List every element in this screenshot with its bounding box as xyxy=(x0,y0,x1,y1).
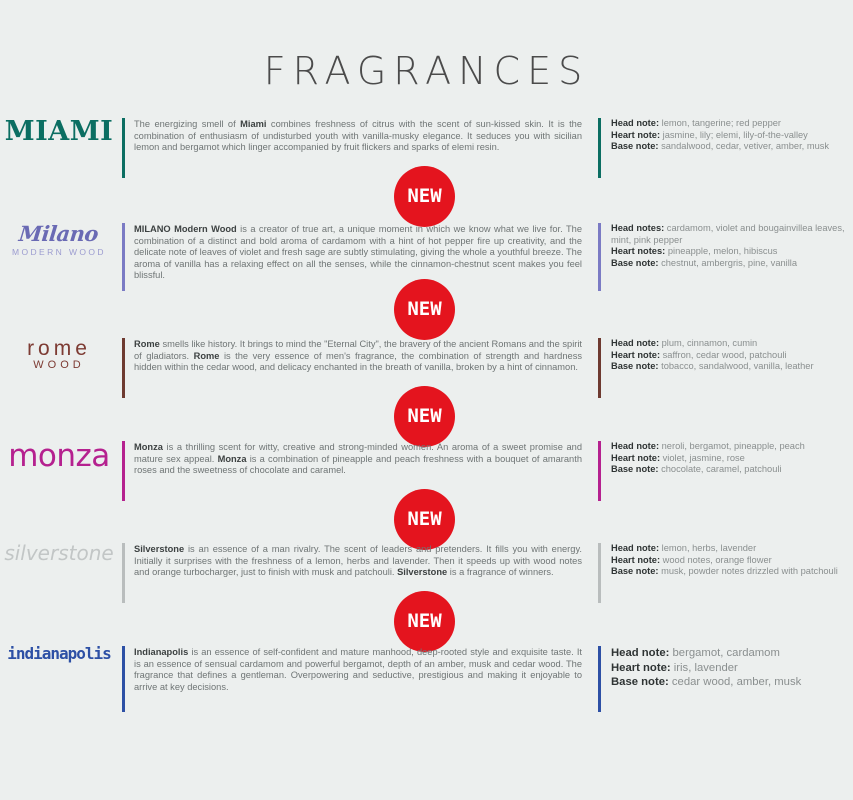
notes-cell-rome: Head note: plum, cinnamon, cuminHeart no… xyxy=(598,338,853,373)
accent-divider-left-monza xyxy=(122,441,125,501)
description-fragment: The energizing smell of xyxy=(134,119,240,129)
note-label: Base note: xyxy=(611,566,659,576)
description-text-milano: MILANO Modern Wood is a creator of true … xyxy=(134,223,582,282)
note-line: Base note: cedar wood, amber, musk xyxy=(611,675,847,690)
notes-cell-silverstone: Head note: lemon, herbs, lavenderHeart n… xyxy=(598,543,853,578)
note-line: Heart note: violet, jasmine, rose xyxy=(611,453,847,465)
new-badge[interactable]: NEW xyxy=(394,591,455,652)
fragrance-row-milano: MilanoMODERN WOODMILANO Modern Wood is a… xyxy=(0,223,853,282)
brand-name-monza: monza xyxy=(8,441,110,472)
brand-logo-text-silverstone: silverstone xyxy=(4,543,113,563)
note-value: iris, lavender xyxy=(671,662,738,674)
note-label: Head note: xyxy=(611,543,659,553)
brand-logo-monza[interactable]: monza xyxy=(0,441,122,472)
fragrances-infographic: FRAGRANCES MIAMIThe energizing smell of … xyxy=(0,0,853,800)
note-line: Heart notes: pineapple, melon, hibiscus xyxy=(611,246,847,258)
description-emphasis: Monza xyxy=(134,442,163,452)
note-value: chocolate, caramel, patchouli xyxy=(659,464,782,474)
note-value: violet, jasmine, rose xyxy=(660,453,745,463)
new-badge[interactable]: NEW xyxy=(394,386,455,447)
note-value: plum, cinnamon, cumin xyxy=(659,338,757,348)
description-emphasis: Silverstone xyxy=(397,567,447,577)
accent-divider-right-milano xyxy=(598,223,601,291)
description-cell-indianapolis: Indianapolis is an essence of self-confi… xyxy=(122,646,598,693)
fragrance-row-rome: romeWOODRome smells like history. It bri… xyxy=(0,338,853,374)
new-badge[interactable]: NEW xyxy=(394,489,455,550)
note-label: Heart notes: xyxy=(611,246,665,256)
description-cell-rome: Rome smells like history. It brings to m… xyxy=(122,338,598,374)
note-line: Head note: neroli, bergamot, pineapple, … xyxy=(611,441,847,453)
description-emphasis: MILANO Modern Wood xyxy=(134,224,237,234)
note-line: Heart note: jasmine, lily; elemi, lily-o… xyxy=(611,130,847,142)
brand-name-milano: Milano xyxy=(18,223,99,244)
note-value: bergamot, cardamom xyxy=(669,647,780,659)
note-label: Base note: xyxy=(611,258,659,268)
new-badge-label: NEW xyxy=(407,612,441,631)
new-badge-label: NEW xyxy=(407,187,441,206)
note-line: Heart note: iris, lavender xyxy=(611,661,847,676)
note-line: Head note: lemon, tangerine; red pepper xyxy=(611,118,847,130)
note-label: Base note: xyxy=(611,141,659,151)
description-fragment: is a fragrance of winners. xyxy=(447,567,553,577)
page-title: FRAGRANCES xyxy=(264,52,589,90)
note-value: chestnut, ambergris, pine, vanilla xyxy=(659,258,798,268)
new-badge-label: NEW xyxy=(407,510,441,529)
description-emphasis: Silverstone xyxy=(134,544,184,554)
description-emphasis: Indianapolis xyxy=(134,647,188,657)
brand-name-silverstone: silverstone xyxy=(4,543,113,563)
accent-divider-right-miami xyxy=(598,118,601,178)
fragrance-row-indianapolis: indianapolisIndianapolis is an essence o… xyxy=(0,646,853,693)
note-value: saffron, cedar wood, patchouli xyxy=(660,350,786,360)
brand-name-miami: MIAMI xyxy=(5,118,113,145)
note-line: Heart note: wood notes, orange flower xyxy=(611,555,847,567)
description-emphasis: Rome xyxy=(134,339,160,349)
note-line: Head note: bergamot, cardamom xyxy=(611,646,847,661)
new-badge[interactable]: NEW xyxy=(394,166,455,227)
description-emphasis: Monza xyxy=(218,454,247,464)
description-fragment: is an essence of self-confident and matu… xyxy=(134,647,582,692)
note-line: Base note: tobacco, sandalwood, vanilla,… xyxy=(611,361,847,373)
note-value: lemon, tangerine; red pepper xyxy=(659,118,781,128)
note-line: Head note: plum, cinnamon, cumin xyxy=(611,338,847,350)
page-title-container: FRAGRANCES xyxy=(0,52,853,90)
brand-subtitle-milano: MODERN WOOD xyxy=(12,248,106,257)
note-label: Head note: xyxy=(611,338,659,348)
note-value: tobacco, sandalwood, vanilla, leather xyxy=(659,361,814,371)
brand-logo-rome[interactable]: romeWOOD xyxy=(0,338,122,371)
brand-name-rome: rome xyxy=(27,338,91,359)
note-label: Heart note: xyxy=(611,662,671,674)
note-label: Base note: xyxy=(611,676,669,688)
note-label: Head notes: xyxy=(611,223,664,233)
note-value: pineapple, melon, hibiscus xyxy=(665,246,777,256)
accent-divider-right-monza xyxy=(598,441,601,501)
accent-divider-left-rome xyxy=(122,338,125,398)
brand-logo-miami[interactable]: MIAMI xyxy=(0,118,122,145)
notes-cell-milano: Head notes: cardamom, violet and bougain… xyxy=(598,223,853,269)
note-line: Base note: musk, powder notes drizzled w… xyxy=(611,566,847,578)
brand-logo-text-monza: monza xyxy=(8,441,110,472)
note-label: Heart note: xyxy=(611,453,660,463)
description-emphasis: Miami xyxy=(240,119,266,129)
note-label: Base note: xyxy=(611,464,659,474)
fragrance-row-monza: monzaMonza is a thrilling scent for witt… xyxy=(0,441,853,477)
accent-divider-left-silverstone xyxy=(122,543,125,603)
description-text-miami: The energizing smell of Miami combines f… xyxy=(134,118,582,154)
note-label: Head note: xyxy=(611,118,659,128)
accent-divider-left-milano xyxy=(122,223,125,291)
note-label: Head note: xyxy=(611,647,669,659)
note-line: Base note: chocolate, caramel, patchouli xyxy=(611,464,847,476)
description-text-silverstone: Silverstone is an essence of a man rival… xyxy=(134,543,582,579)
note-line: Heart note: saffron, cedar wood, patchou… xyxy=(611,350,847,362)
fragrance-row-miami: MIAMIThe energizing smell of Miami combi… xyxy=(0,118,853,154)
note-line: Base note: chestnut, ambergris, pine, va… xyxy=(611,258,847,270)
description-text-monza: Monza is a thrilling scent for witty, cr… xyxy=(134,441,582,477)
accent-divider-left-indianapolis xyxy=(122,646,125,712)
note-label: Base note: xyxy=(611,361,659,371)
note-label: Head note: xyxy=(611,441,659,451)
note-line: Head notes: cardamom, violet and bougain… xyxy=(611,223,847,246)
notes-cell-monza: Head note: neroli, bergamot, pineapple, … xyxy=(598,441,853,476)
accent-divider-left-miami xyxy=(122,118,125,178)
note-value: sandalwood, cedar, vetiver, amber, musk xyxy=(659,141,830,151)
description-cell-silverstone: Silverstone is an essence of a man rival… xyxy=(122,543,598,579)
note-value: neroli, bergamot, pineapple, peach xyxy=(659,441,805,451)
brand-logo-text-indianapolis: indianapolis xyxy=(7,646,111,662)
brand-logo-text-rome: romeWOOD xyxy=(27,338,91,371)
note-value: jasmine, lily; elemi, lily-of-the-valley xyxy=(660,130,808,140)
note-value: lemon, herbs, lavender xyxy=(659,543,756,553)
new-badge-label: NEW xyxy=(407,407,441,426)
description-cell-milano: MILANO Modern Wood is a creator of true … xyxy=(122,223,598,282)
description-text-indianapolis: Indianapolis is an essence of self-confi… xyxy=(134,646,582,693)
description-cell-miami: The energizing smell of Miami combines f… xyxy=(122,118,598,154)
brand-logo-text-miami: MIAMI xyxy=(5,118,113,145)
note-line: Base note: sandalwood, cedar, vetiver, a… xyxy=(611,141,847,153)
brand-name-indianapolis: indianapolis xyxy=(7,646,111,662)
fragrance-row-silverstone: silverstoneSilverstone is an essence of … xyxy=(0,543,853,579)
notes-cell-miami: Head note: lemon, tangerine; red pepperH… xyxy=(598,118,853,153)
note-label: Heart note: xyxy=(611,350,660,360)
brand-logo-silverstone[interactable]: silverstone xyxy=(0,543,122,563)
note-value: wood notes, orange flower xyxy=(660,555,772,565)
note-label: Heart note: xyxy=(611,555,660,565)
brand-subtitle-rome: WOOD xyxy=(27,360,91,371)
description-text-rome: Rome smells like history. It brings to m… xyxy=(134,338,582,374)
note-value: cedar wood, amber, musk xyxy=(669,676,802,688)
note-value: musk, powder notes drizzled with patchou… xyxy=(659,566,838,576)
description-emphasis: Rome xyxy=(194,351,220,361)
new-badge[interactable]: NEW xyxy=(394,279,455,340)
note-label: Heart note: xyxy=(611,130,660,140)
accent-divider-right-indianapolis xyxy=(598,646,601,712)
note-line: Head note: lemon, herbs, lavender xyxy=(611,543,847,555)
description-cell-monza: Monza is a thrilling scent for witty, cr… xyxy=(122,441,598,477)
accent-divider-right-rome xyxy=(598,338,601,398)
brand-logo-text-milano: MilanoMODERN WOOD xyxy=(12,223,106,257)
accent-divider-right-silverstone xyxy=(598,543,601,603)
new-badge-label: NEW xyxy=(407,300,441,319)
brand-logo-milano[interactable]: MilanoMODERN WOOD xyxy=(0,223,122,257)
notes-cell-indianapolis: Head note: bergamot, cardamomHeart note:… xyxy=(598,646,853,690)
brand-logo-indianapolis[interactable]: indianapolis xyxy=(0,646,122,662)
